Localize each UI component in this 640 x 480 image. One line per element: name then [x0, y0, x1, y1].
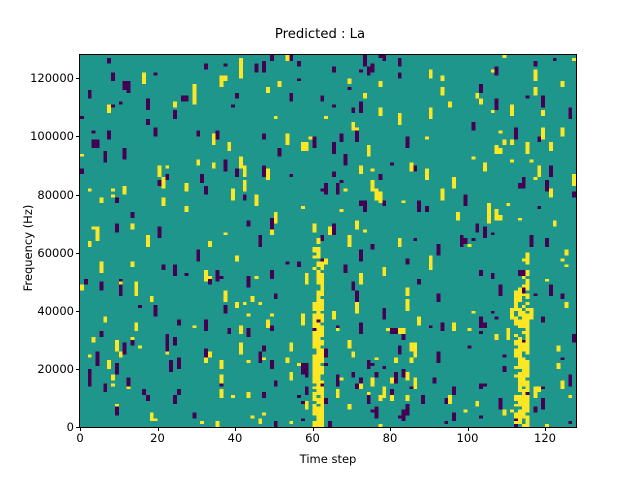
figure-canvas: Predicted : La 0200004000060000800001000… — [0, 0, 640, 480]
x-tick-label: 0 — [76, 431, 83, 445]
y-tick-label: 120000 — [30, 71, 74, 85]
x-tick-label: 100 — [457, 431, 479, 445]
x-tick-mark — [545, 427, 546, 431]
y-tick-label: 0 — [67, 420, 74, 434]
x-tick-label: 40 — [228, 431, 243, 445]
y-tick-mark — [76, 369, 80, 370]
y-axis-tick-labels: 020000400006000080000100000120000 — [0, 0, 74, 480]
y-tick-mark — [76, 78, 80, 79]
y-tick-mark — [76, 136, 80, 137]
y-tick-mark — [76, 195, 80, 196]
x-tick-mark — [80, 427, 81, 431]
y-tick-mark — [76, 311, 80, 312]
y-tick-label: 100000 — [30, 129, 74, 143]
y-axis-label: Frequency (Hz) — [21, 128, 35, 368]
x-tick-label: 80 — [383, 431, 398, 445]
heatmap-plot-area — [79, 54, 577, 428]
y-tick-label: 60000 — [37, 246, 74, 260]
x-tick-label: 60 — [305, 431, 320, 445]
x-tick-label: 20 — [150, 431, 165, 445]
x-tick-mark — [390, 427, 391, 431]
y-tick-label: 40000 — [37, 304, 74, 318]
x-axis-label: Time step — [80, 452, 576, 466]
heatmap-image — [80, 55, 576, 427]
page-title: Predicted : La — [0, 27, 640, 42]
y-tick-label: 20000 — [37, 362, 74, 376]
y-tick-mark — [76, 253, 80, 254]
x-tick-mark — [235, 427, 236, 431]
x-tick-label: 120 — [534, 431, 556, 445]
x-tick-mark — [468, 427, 469, 431]
x-tick-mark — [313, 427, 314, 431]
y-tick-label: 80000 — [37, 188, 74, 202]
x-tick-mark — [158, 427, 159, 431]
